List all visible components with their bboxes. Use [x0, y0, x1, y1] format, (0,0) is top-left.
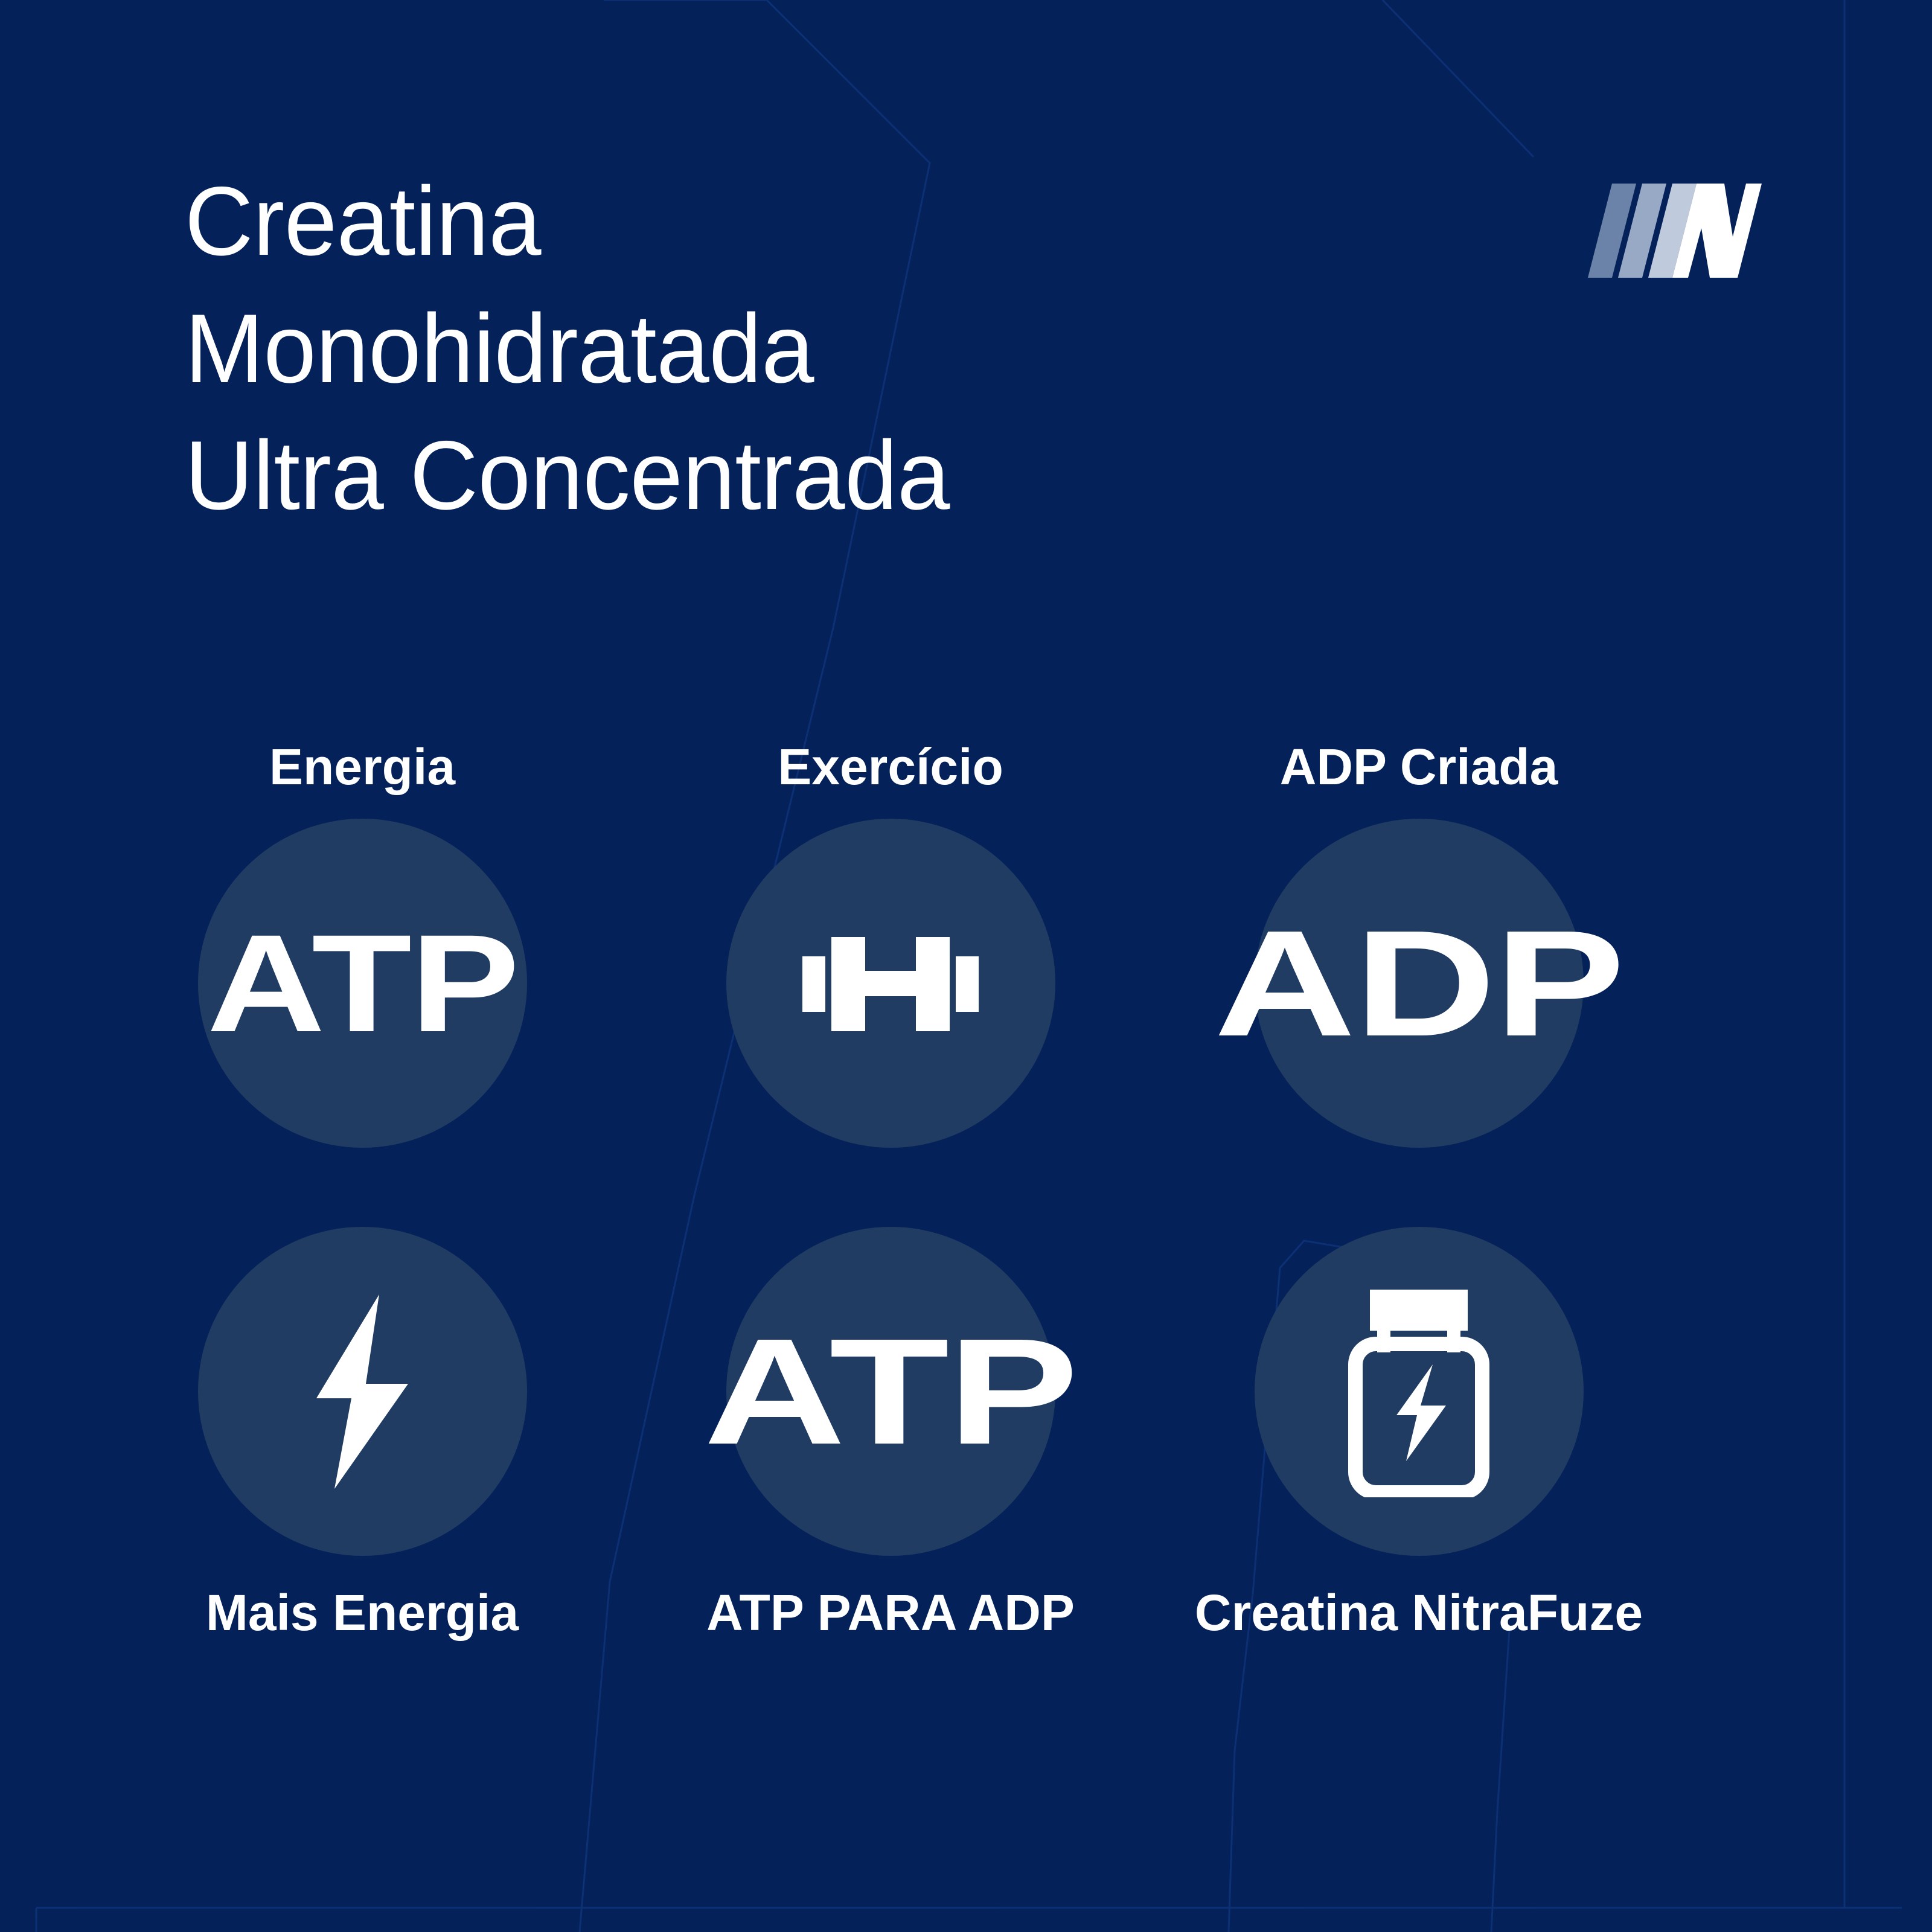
- benefit-cell-atp-para-adp[interactable]: ATP ATP PARA ADP: [661, 1227, 1120, 1638]
- benefit-icon-circle: [198, 1227, 527, 1556]
- atp-label-icon: ATP: [704, 1316, 1077, 1467]
- benefit-cell-creatina-nitrafuze[interactable]: Creatina NitraFuze: [1189, 1227, 1648, 1638]
- adp-label-icon: ADP: [1214, 908, 1623, 1059]
- page-title: Creatina Monohidratada Ultra Concentrada: [185, 158, 1403, 540]
- benefit-cell-adp-criada[interactable]: ADP Criada ADP: [1189, 741, 1648, 1148]
- benefit-label-adp-criada: ADP Criada: [1189, 741, 1648, 792]
- benefit-icon-circle: [726, 819, 1055, 1148]
- product-feature-poster: Creatina Monohidratada Ultra Concentrada…: [0, 0, 1932, 1932]
- benefit-cell-mais-energia[interactable]: Mais Energia: [133, 1227, 592, 1638]
- lightning-bolt-icon: [302, 1292, 423, 1491]
- benefit-icon-circle: ADP: [1255, 819, 1584, 1148]
- poster-header: Creatina Monohidratada Ultra Concentrada: [0, 0, 1932, 604]
- benefit-cell-energia[interactable]: Energia ATP: [133, 741, 592, 1148]
- benefit-icon-circle: ATP: [726, 1227, 1055, 1556]
- benefit-icon-circle: [1255, 1227, 1584, 1556]
- benefit-icon-circle: ATP: [198, 819, 527, 1148]
- benefit-label-exercicio: Exercício: [661, 741, 1120, 792]
- benefit-label-creatina-nitrafuze: Creatina NitraFuze: [1189, 1587, 1648, 1638]
- brand-logo-n: [1581, 170, 1762, 291]
- benefit-label-mais-energia: Mais Energia: [133, 1587, 592, 1638]
- supplement-bottle-icon: [1343, 1286, 1494, 1497]
- benefits-grid: Energia ATP Exercício ADP Criada ADP: [0, 724, 1932, 1811]
- atp-label-icon: ATP: [206, 914, 518, 1053]
- dumbbell-icon: [800, 926, 981, 1041]
- benefit-cell-exercicio[interactable]: Exercício: [661, 741, 1120, 1148]
- benefit-label-atp-para-adp: ATP PARA ADP: [661, 1587, 1120, 1638]
- benefit-label-energia: Energia: [133, 741, 592, 792]
